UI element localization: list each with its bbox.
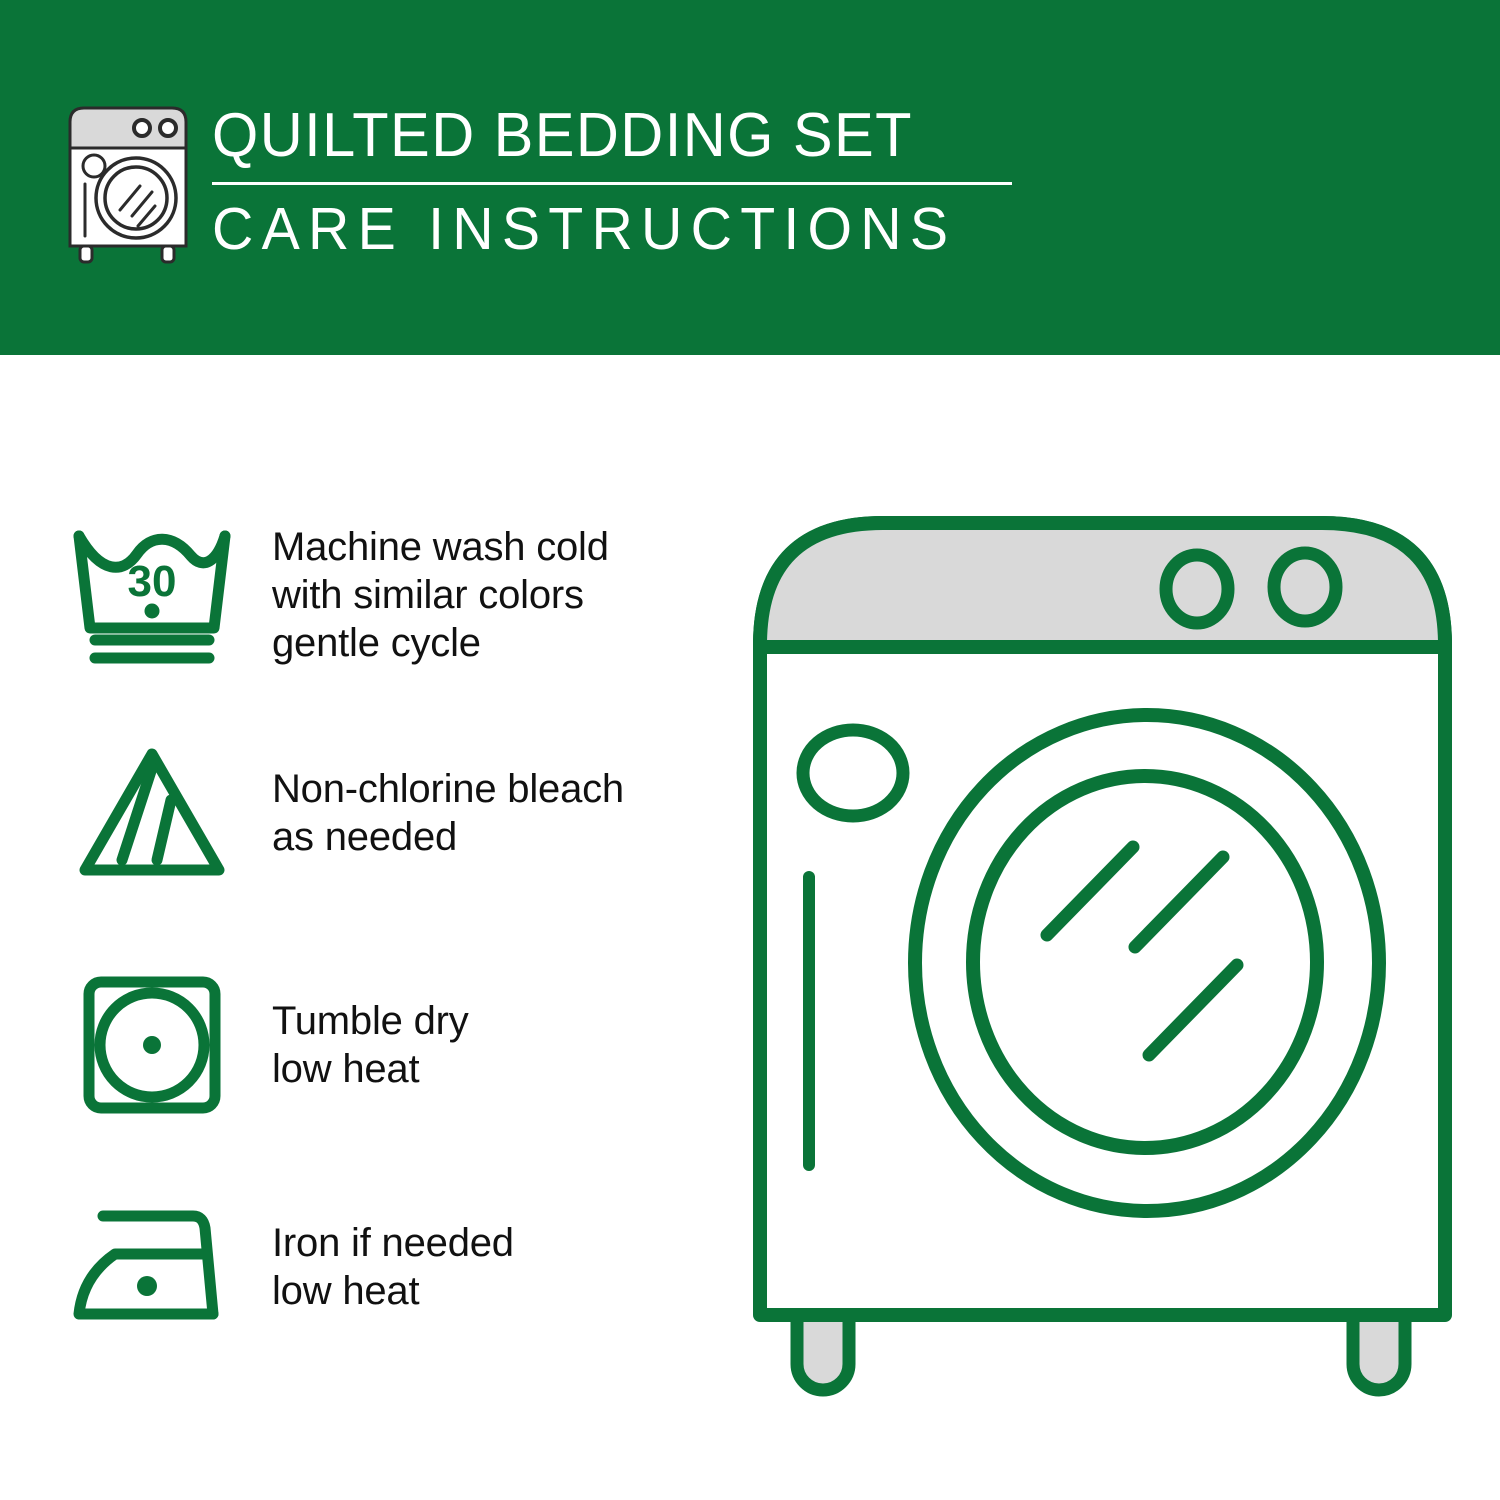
header-content: QUILTED BEDDING SET CARE INSTRUCTIONS [62, 100, 1012, 268]
care-text-line: gentle cycle [272, 619, 609, 667]
care-item-text: Tumble dry low heat [272, 997, 469, 1093]
care-item-text: Non-chlorine bleach as needed [272, 765, 624, 861]
title-divider [212, 182, 1012, 185]
non-chlorine-bleach-triangle-icon [62, 733, 242, 893]
washing-machine-illustration [745, 495, 1460, 1425]
care-item-bleach: Non-chlorine bleach as needed [62, 733, 712, 893]
tumble-dry-low-icon [62, 965, 242, 1125]
care-instruction-list: 30 Machine wash cold with similar colors… [0, 355, 730, 1500]
care-text-line: Iron if needed [272, 1219, 514, 1267]
wash-temperature-label: 30 [128, 557, 177, 606]
washing-machine-icon [62, 100, 194, 268]
care-item-machine-wash: 30 Machine wash cold with similar colors… [62, 515, 712, 675]
care-text-line: with similar colors [272, 571, 609, 619]
page-subtitle: CARE INSTRUCTIONS [212, 197, 988, 261]
care-item-tumble-dry: Tumble dry low heat [62, 965, 712, 1125]
care-text-line: as needed [272, 813, 624, 861]
iron-low-heat-icon [62, 1187, 242, 1347]
machine-knob [1166, 555, 1228, 623]
care-text-line: low heat [272, 1045, 469, 1093]
care-text-line: Machine wash cold [272, 523, 609, 571]
care-text-line: Tumble dry [272, 997, 469, 1045]
header-title-block: QUILTED BEDDING SET CARE INSTRUCTIONS [212, 100, 1012, 261]
care-item-text: Iron if needed low heat [272, 1219, 514, 1315]
detergent-dispenser-icon [803, 730, 903, 816]
machine-knob [1274, 553, 1336, 621]
care-text-line: low heat [272, 1267, 514, 1315]
care-item-text: Machine wash cold with similar colors ge… [272, 523, 609, 667]
page-header: QUILTED BEDDING SET CARE INSTRUCTIONS [0, 0, 1500, 355]
page-title: QUILTED BEDDING SET [212, 102, 980, 170]
care-text-line: Non-chlorine bleach [272, 765, 624, 813]
care-item-iron: Iron if needed low heat [62, 1187, 712, 1347]
wash-tub-30-icon: 30 [62, 515, 242, 675]
